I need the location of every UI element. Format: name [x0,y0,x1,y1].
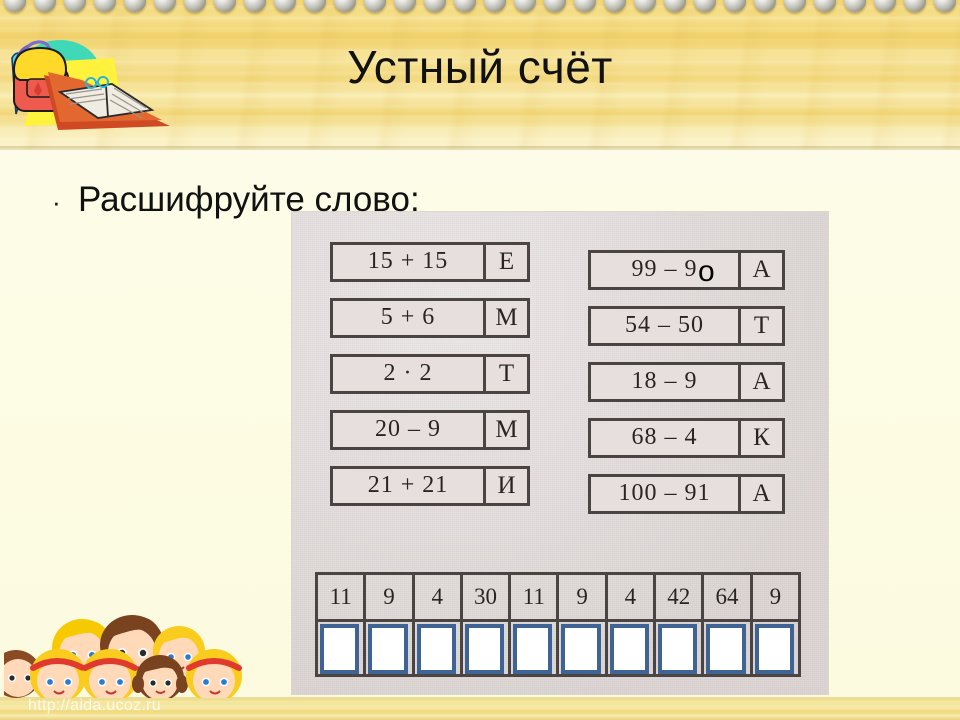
equation-box: 2 · 2Т [330,354,530,394]
answer-input-box[interactable] [368,624,407,674]
answer-grid-blank-cell [559,622,604,674]
spiral-ring-icon [754,0,776,12]
answer-grid: 119430119442649 [315,572,801,677]
spiral-ring-icon [664,0,686,12]
equation-box: 68 – 4К [588,418,785,458]
spiral-ring-icon [394,0,416,12]
answer-input-box[interactable] [320,624,359,674]
equation-expression: 5 + 6 [333,301,483,335]
spiral-ring-icon [64,0,86,12]
equation-box: 100 – 91А [588,474,785,514]
answer-grid-column: 11 [318,575,366,674]
answer-input-box[interactable] [706,624,745,674]
answer-grid-column: 11 [511,575,559,674]
spiral-ring-icon [454,0,476,12]
spiral-ring-icon [154,0,176,12]
spiral-ring-icon [124,0,146,12]
answer-input-box[interactable] [465,624,504,674]
answer-grid-number: 64 [704,575,749,622]
equation-expression: 20 – 9 [333,413,483,447]
spiral-ring-icon [364,0,386,12]
spiral-ring-icon [514,0,536,12]
spiral-ring-icon [934,0,956,12]
equation-expression: 21 + 21 [333,469,483,503]
spiral-ring-icon [844,0,866,12]
answer-grid-blank-cell [608,622,653,674]
equation-letter: Е [483,245,527,279]
answer-input-box[interactable] [561,624,600,674]
answer-input-box[interactable] [755,624,794,674]
equation-letter: А [738,253,782,287]
answer-grid-column: 4 [415,575,463,674]
equation-expression: 54 – 50 [591,309,738,343]
answer-grid-blank-cell [656,622,701,674]
spiral-ring-icon [904,0,926,12]
answer-grid-column: 64 [704,575,752,674]
spiral-ring-icon [724,0,746,12]
answer-grid-number: 4 [415,575,460,622]
overlay-digit-o: о [698,257,715,287]
answer-grid-number: 42 [656,575,701,622]
equation-box: 21 + 21И [330,466,530,506]
spiral-ring-icon [4,0,26,12]
answer-grid-column: 9 [366,575,414,674]
answer-grid-column: 4 [608,575,656,674]
equation-letter: А [738,365,782,399]
equation-box: 5 + 6М [330,298,530,338]
equation-expression: 99 – 9 [591,253,738,287]
spiral-ring-icon [784,0,806,12]
answer-grid-number: 9 [753,575,798,622]
equation-expression: 100 – 91 [591,477,738,511]
spiral-ring-icon [874,0,896,12]
answer-input-box[interactable] [610,624,649,674]
spiral-ring-icon [574,0,596,12]
equation-letter: Т [483,357,527,391]
children-faces-clipart [4,614,294,698]
answer-grid-number: 11 [318,575,363,622]
spiral-ring-icon [694,0,716,12]
answer-grid-column: 9 [559,575,607,674]
answer-input-box[interactable] [417,624,456,674]
spiral-ring-icon [634,0,656,12]
answer-grid-number: 9 [366,575,411,622]
spiral-ring-icon [274,0,296,12]
equation-expression: 18 – 9 [591,365,738,399]
answer-grid-number: 4 [608,575,653,622]
equation-letter: И [483,469,527,503]
equation-expression: 68 – 4 [591,421,738,455]
answer-grid-blank-cell [318,622,363,674]
answer-grid-blank-cell [366,622,411,674]
spiral-binding-rings [0,0,960,24]
equation-box: 99 – 9А [588,250,785,290]
equation-letter: Т [738,309,782,343]
answer-input-box[interactable] [658,624,697,674]
bullet-dot-icon: · [52,189,78,215]
spiral-ring-icon [484,0,506,12]
spiral-ring-icon [304,0,326,12]
equation-expression: 2 · 2 [333,357,483,391]
watermark-url: http://aida.ucoz.ru [28,697,161,715]
spiral-ring-icon [604,0,626,12]
equation-letter: А [738,477,782,511]
answer-input-box[interactable] [513,624,552,674]
spiral-ring-icon [424,0,446,12]
answer-grid-blank-cell [511,622,556,674]
page-title: Устный счёт [0,44,960,90]
equation-letter: М [483,413,527,447]
answer-grid-blank-cell [415,622,460,674]
answer-grid-column: 42 [656,575,704,674]
answer-grid-number: 9 [559,575,604,622]
spiral-ring-icon [184,0,206,12]
equation-box: 18 – 9А [588,362,785,402]
answer-grid-blank-cell [753,622,798,674]
answer-grid-number: 11 [511,575,556,622]
worksheet-image: 15 + 15Е5 + 6М2 · 2Т20 – 9М21 + 21И99 – … [292,212,828,694]
answer-grid-blank-cell [704,622,749,674]
spiral-ring-icon [544,0,566,12]
answer-grid-column: 9 [753,575,798,674]
slide-canvas: Устный счёт · Расшифруйте слово: 15 + 15… [0,0,960,720]
spiral-ring-icon [34,0,56,12]
equation-letter: К [738,421,782,455]
spiral-ring-icon [214,0,236,12]
equation-box: 54 – 50Т [588,306,785,346]
spiral-ring-icon [334,0,356,12]
answer-grid-number: 30 [463,575,508,622]
equation-box: 15 + 15Е [330,242,530,282]
answer-grid-blank-cell [463,622,508,674]
answer-grid-column: 30 [463,575,511,674]
equation-expression: 15 + 15 [333,245,483,279]
spiral-ring-icon [814,0,836,12]
spiral-ring-icon [244,0,266,12]
spiral-ring-icon [94,0,116,12]
equation-box: 20 – 9М [330,410,530,450]
equation-letter: М [483,301,527,335]
